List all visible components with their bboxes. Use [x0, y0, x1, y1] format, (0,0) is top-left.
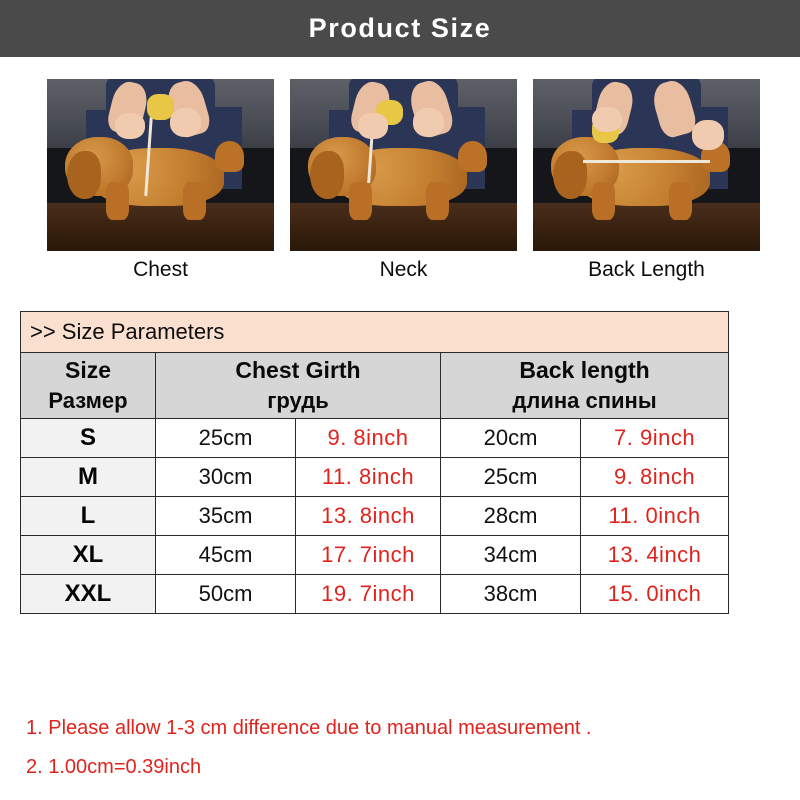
note-line-2: 2. 1.00cm=0.39inch — [26, 757, 776, 777]
cell-back-cm: 28cm — [441, 497, 581, 536]
cell-size: L — [21, 497, 156, 536]
header-chest-en: Chest Girth — [235, 357, 360, 383]
cell-back-inch: 15. 0inch — [581, 575, 729, 614]
dog-back-length-measurement-photo — [533, 79, 760, 251]
dog-chest-measurement-photo — [47, 79, 274, 251]
cell-chest-cm: 30cm — [156, 458, 296, 497]
dog-neck-measurement-photo — [290, 79, 517, 251]
cell-size: XL — [21, 536, 156, 575]
photo-caption-neck: Neck — [380, 258, 428, 281]
photo-dog-leg-front — [592, 182, 615, 220]
photo-person-hand-left — [592, 107, 622, 133]
photo-person-hand-left — [115, 113, 145, 139]
cell-chest-cm: 25cm — [156, 419, 296, 458]
photo-table — [533, 203, 760, 251]
cell-size: XXL — [21, 575, 156, 614]
table-section-title-row: >> Size Parameters — [21, 312, 729, 353]
page-title: Product Size — [309, 13, 492, 44]
table-row: XL 45cm 17. 7inch 34cm 13. 4inch — [21, 536, 729, 575]
cell-size: S — [21, 419, 156, 458]
measurement-photo-strip: Chest N — [47, 79, 760, 294]
photo-dog-leg-rear — [669, 182, 692, 220]
cell-back-inch: 9. 8inch — [581, 458, 729, 497]
cell-back-inch: 7. 9inch — [581, 419, 729, 458]
photo-person-hand-right — [692, 120, 724, 149]
table-row: XXL 50cm 19. 7inch 38cm 15. 0inch — [21, 575, 729, 614]
photo-dog-leg-rear — [183, 182, 206, 220]
photo-dog-ear — [553, 151, 587, 199]
photo-dog-leg-front — [106, 182, 129, 220]
photo-person-hand-left — [358, 113, 388, 139]
photo-dog-ear — [310, 151, 344, 199]
photo-cell-back-length: Back Length — [533, 79, 760, 294]
footer-notes: 1. Please allow 1-3 cm difference due to… — [26, 718, 776, 796]
cell-chest-cm: 50cm — [156, 575, 296, 614]
photo-cell-chest: Chest — [47, 79, 274, 294]
cell-chest-inch: 19. 7inch — [296, 575, 441, 614]
header-back-length: Back length длина спины — [441, 353, 729, 419]
photo-dog-tail — [215, 141, 245, 172]
cell-chest-cm: 45cm — [156, 536, 296, 575]
size-parameters-table: >> Size Parameters Size Размер Chest Gir… — [20, 311, 729, 614]
header-chest-girth: Chest Girth грудь — [156, 353, 441, 419]
header-size-ru: Размер — [21, 386, 155, 416]
header-back-en: Back length — [519, 357, 649, 383]
cell-back-cm: 34cm — [441, 536, 581, 575]
photo-caption-back-length: Back Length — [588, 258, 705, 281]
photo-dog-leg-front — [349, 182, 372, 220]
cell-chest-inch: 11. 8inch — [296, 458, 441, 497]
cell-back-cm: 38cm — [441, 575, 581, 614]
cell-size: M — [21, 458, 156, 497]
table-row: L 35cm 13. 8inch 28cm 11. 0inch — [21, 497, 729, 536]
size-parameters-label: >> Size Parameters — [21, 312, 729, 353]
table-row: S 25cm 9. 8inch 20cm 7. 9inch — [21, 419, 729, 458]
page-banner: Product Size — [0, 0, 800, 57]
cell-back-cm: 25cm — [441, 458, 581, 497]
cell-chest-cm: 35cm — [156, 497, 296, 536]
header-back-ru: длина спины — [441, 386, 728, 416]
note-line-1: 1. Please allow 1-3 cm difference due to… — [26, 718, 776, 738]
photo-caption-chest: Chest — [133, 258, 188, 281]
photo-table — [47, 203, 274, 251]
cell-chest-inch: 13. 8inch — [296, 497, 441, 536]
cell-back-cm: 20cm — [441, 419, 581, 458]
photo-table — [290, 203, 517, 251]
header-size: Size Размер — [21, 353, 156, 419]
table-header-row: Size Размер Chest Girth грудь Back lengt… — [21, 353, 729, 419]
photo-person-hand-right — [170, 108, 202, 137]
cell-chest-inch: 9. 8inch — [296, 419, 441, 458]
photo-person-hand-right — [413, 108, 445, 137]
photo-dog-ear — [67, 151, 101, 199]
header-size-en: Size — [65, 357, 111, 383]
product-size-page: Product Size — [0, 0, 800, 800]
table-row: M 30cm 11. 8inch 25cm 9. 8inch — [21, 458, 729, 497]
photo-dog-leg-rear — [426, 182, 449, 220]
cell-back-inch: 11. 0inch — [581, 497, 729, 536]
photo-cell-neck: Neck — [290, 79, 517, 294]
header-chest-ru: грудь — [156, 386, 440, 416]
cell-back-inch: 13. 4inch — [581, 536, 729, 575]
cell-chest-inch: 17. 7inch — [296, 536, 441, 575]
photo-dog-tail — [458, 141, 488, 172]
photo-measuring-tape — [583, 160, 710, 163]
